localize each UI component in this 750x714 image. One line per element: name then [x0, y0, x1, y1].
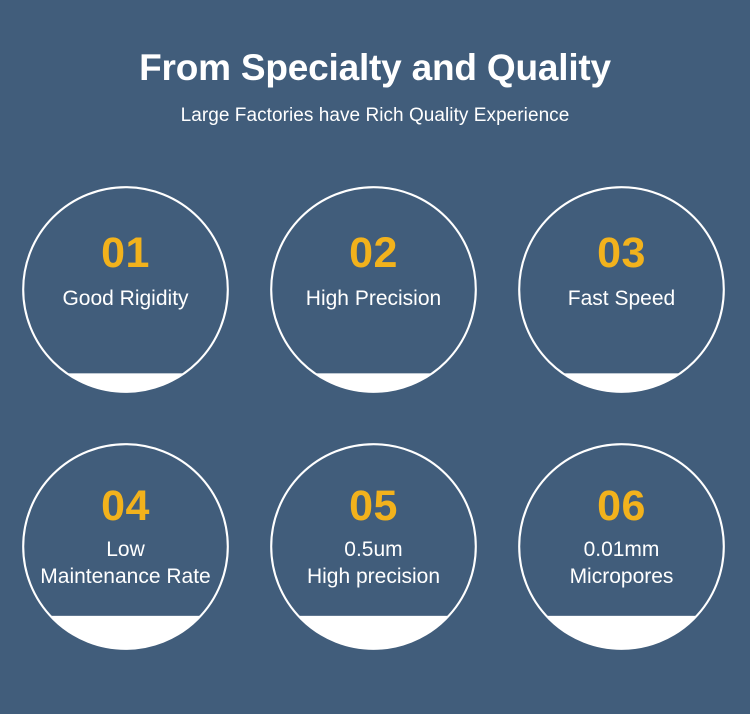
feature-card-04[interactable]: 04 Low Maintenance Rate	[22, 443, 229, 650]
feature-card-03[interactable]: 03 Fast Speed	[518, 186, 725, 393]
feature-grid: 01 Good Rigidity 02 High Precision	[0, 186, 750, 650]
feature-row-top: 01 Good Rigidity 02 High Precision	[0, 186, 750, 393]
circle-graphic-04	[22, 443, 229, 650]
page-title: From Specialty and Quality	[0, 0, 750, 89]
feature-row-bottom: 04 Low Maintenance Rate 05 0.5um High pr…	[0, 443, 750, 650]
circle-graphic-06	[518, 443, 725, 650]
feature-card-01[interactable]: 01 Good Rigidity	[22, 186, 229, 393]
feature-card-05[interactable]: 05 0.5um High precision	[270, 443, 477, 650]
header: From Specialty and Quality Large Factori…	[0, 0, 750, 127]
circle-graphic-02	[270, 186, 477, 393]
feature-card-06[interactable]: 06 0.01mm Micropores	[518, 443, 725, 650]
page-subtitle: Large Factories have Rich Quality Experi…	[0, 89, 750, 128]
circle-graphic-03	[518, 186, 725, 393]
infographic-banner: From Specialty and Quality Large Factori…	[0, 0, 750, 714]
circle-graphic-05	[270, 443, 477, 650]
feature-card-02[interactable]: 02 High Precision	[270, 186, 477, 393]
circle-graphic-01	[22, 186, 229, 393]
